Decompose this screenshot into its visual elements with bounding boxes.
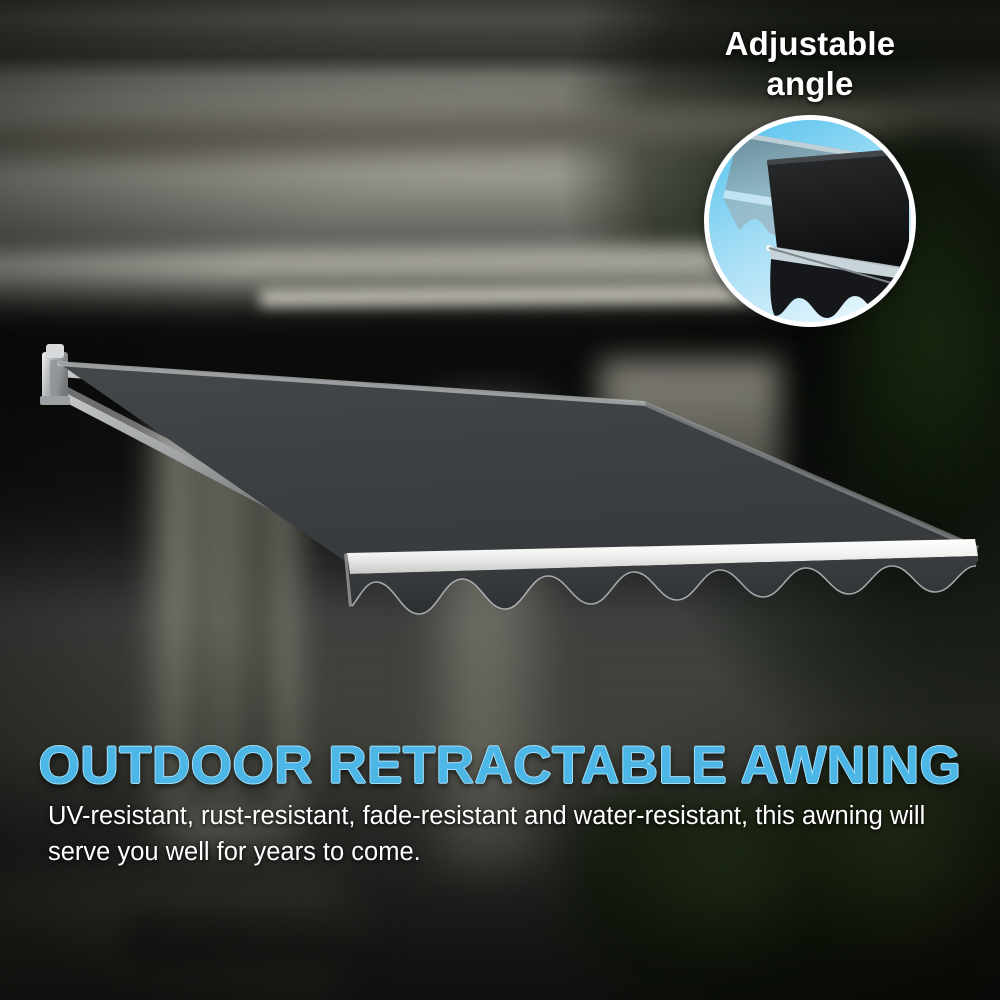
angle-diagram-circle <box>704 115 916 327</box>
adjustable-angle-callout: Adjustable angle <box>650 24 970 327</box>
callout-title: Adjustable angle <box>650 24 970 105</box>
page-headline: OUTDOOR RETRACTABLE AWNING <box>0 735 1000 796</box>
angle-diagram-circle-wrapper <box>704 115 916 327</box>
page-subcopy: UV-resistant, rust-resistant, fade-resis… <box>48 798 928 870</box>
callout-title-line-2: angle <box>766 65 853 102</box>
solid-awning-lowered <box>766 148 909 318</box>
angle-diagram-illustration <box>709 120 911 322</box>
product-marketing-image: Adjustable angle <box>0 0 1000 1000</box>
callout-title-line-1: Adjustable <box>725 25 896 62</box>
